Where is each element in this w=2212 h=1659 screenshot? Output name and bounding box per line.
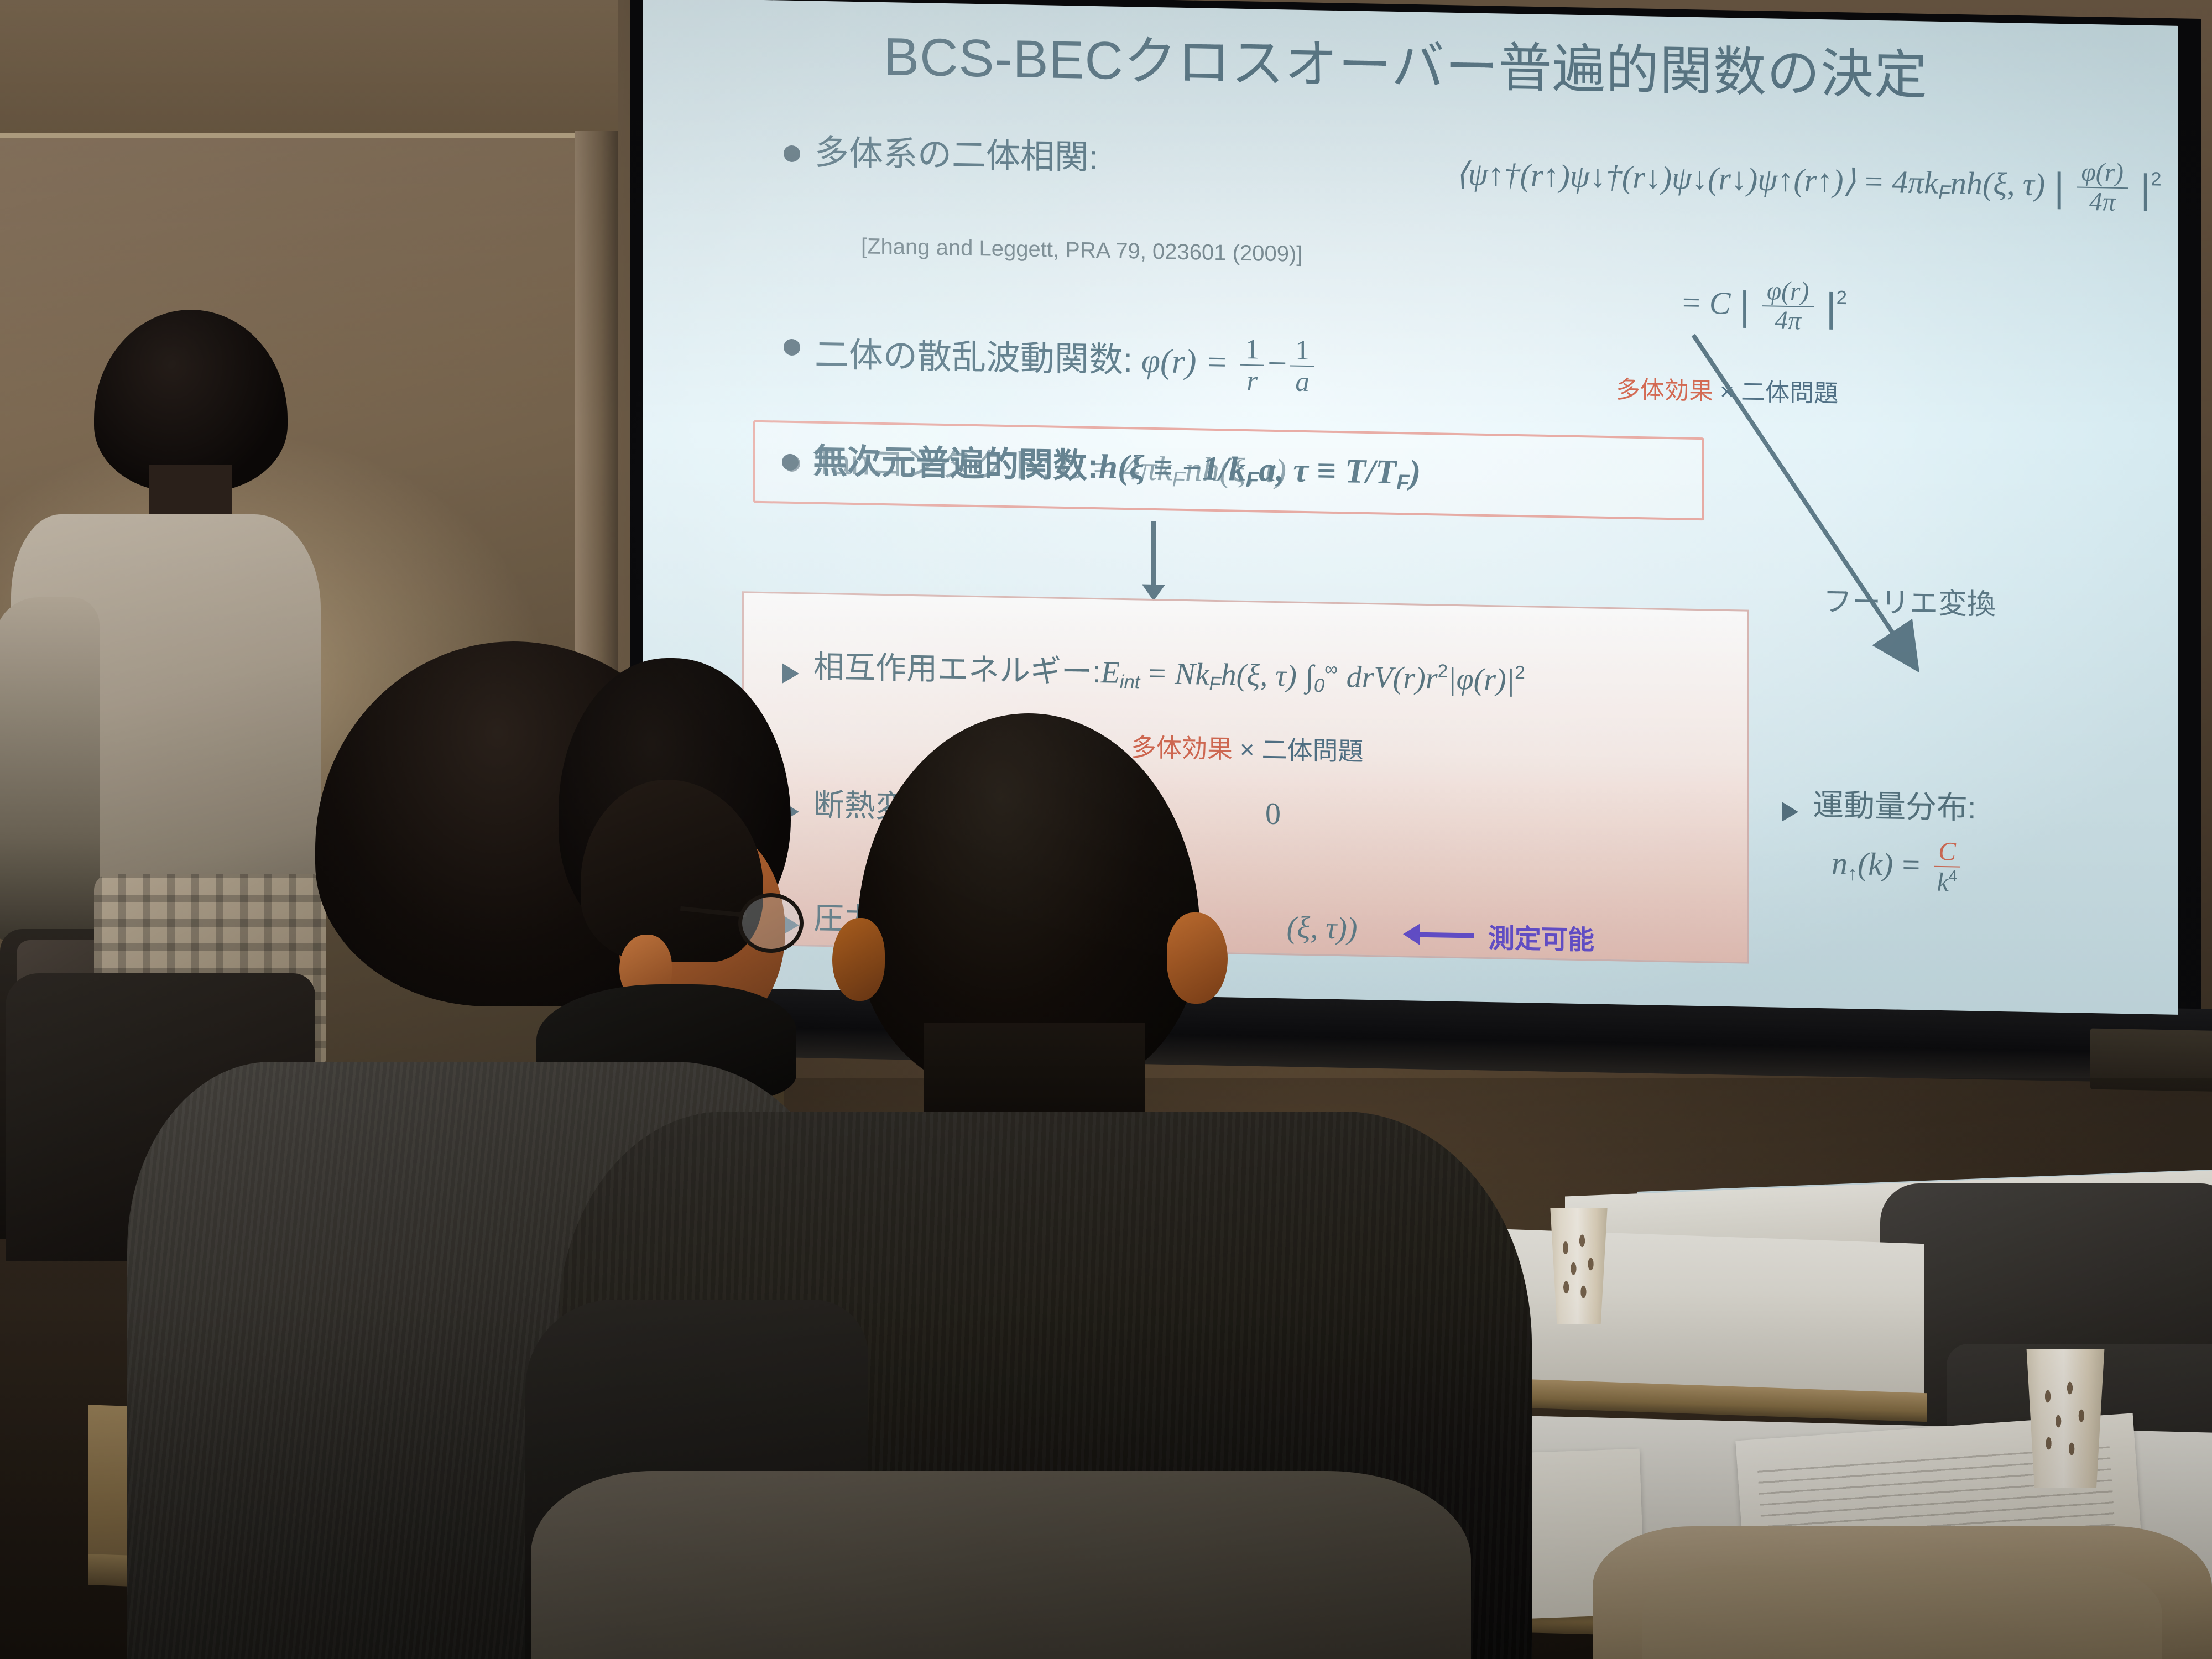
bullet-1-label: 多体系の二体相関 bbox=[815, 134, 1089, 177]
eq1-lhs: ⟨ψ↑†(r↑)ψ↓†(r↓)ψ↓(r↓)ψ↑(r↑)⟩ bbox=[1455, 156, 1856, 199]
boxed-xi-sub: F bbox=[1246, 467, 1259, 491]
bullet-2-label: 二体の散乱波動関数 bbox=[815, 336, 1123, 379]
bullet-1-text: 多体系の二体相関: bbox=[815, 134, 1098, 178]
r1-eq: = bbox=[1149, 656, 1166, 691]
paper-cup bbox=[2021, 1349, 2110, 1488]
mom-fraction: C k4 bbox=[1932, 839, 1962, 897]
eq1-rhs-prefix: 4πk bbox=[1892, 164, 1938, 201]
bullet-item-2: 二体の散乱波動関数: φ(r) = 1r−1a bbox=[784, 327, 1318, 396]
b2-f1-den: r bbox=[1241, 366, 1262, 395]
r1-int-lower: 0 bbox=[1314, 675, 1324, 696]
mom-lhs: n bbox=[1832, 846, 1848, 882]
boxed-sep: : bbox=[1087, 447, 1099, 485]
bullet-2-sep: : bbox=[1123, 341, 1133, 379]
bullet-2-text: 二体の散乱波動関数: φ(r) = 1r−1a bbox=[815, 327, 1318, 396]
momentum-label-row: 運動量分布: bbox=[1782, 787, 1976, 825]
bullet-2-frac1: 1r bbox=[1240, 335, 1264, 395]
mom-frac-den: k bbox=[1937, 868, 1949, 897]
chair-tan-inner bbox=[1642, 1565, 2162, 1659]
eq2-frac-num: φ(r) bbox=[1762, 278, 1814, 307]
standing-person-arm bbox=[0, 597, 100, 940]
boxed-label: 無次元普遍的関数 bbox=[813, 442, 1087, 485]
bullet-2-phi: φ(r) = bbox=[1133, 342, 1237, 381]
citation: [Zhang and Leggett, PRA 79, 023601 (2009… bbox=[861, 234, 1302, 267]
r1-rhs4-sup: 2 bbox=[1515, 662, 1525, 683]
bullet-2-minus: − bbox=[1267, 345, 1287, 383]
momentum-equation: n↑(k) = C k4 bbox=[1832, 837, 1976, 896]
r1-lhs-sub: int bbox=[1120, 672, 1140, 693]
r1-rhs3: drV(r)r bbox=[1347, 660, 1438, 696]
center-person-right-ear bbox=[1167, 912, 1228, 1004]
r1-sep: : bbox=[1092, 654, 1101, 689]
center-person-left-ear bbox=[832, 918, 885, 1001]
eq2-frac-exp: 2 bbox=[1837, 287, 1847, 309]
boxed-func: h( bbox=[1099, 448, 1129, 486]
mom-eq-sign: = bbox=[1902, 847, 1920, 883]
bullet-2-frac2: 1a bbox=[1290, 336, 1314, 396]
momentum-sep: : bbox=[1968, 790, 1976, 825]
abs-bar-close-icon: | bbox=[2140, 166, 2151, 212]
bullet-1-equation: ⟨ψ↑†(r↑)ψ↓†(r↓)ψ↓(r↓)ψ↑(r↑)⟩ = 4πkFnh(ξ,… bbox=[1455, 148, 2162, 217]
b2-f2-den: a bbox=[1290, 366, 1314, 396]
slide-title: BCS-BECクロスオーバー普遍的関数の決定 bbox=[880, 13, 1931, 109]
mom-frac-num: C bbox=[1934, 839, 1961, 868]
abs-bar-open-icon: | bbox=[2054, 164, 2064, 210]
measurable-label: 測定可能 bbox=[1488, 916, 1594, 957]
eq1-rhs-mid: nh(ξ, τ) bbox=[1950, 165, 2045, 202]
r1-int-upper: ∞ bbox=[1324, 659, 1338, 680]
momentum-distribution-item: 運動量分布: n↑(k) = C k4 bbox=[1782, 787, 1976, 897]
boxed-bullet-text: 無次元普遍的関数:h(ξ ≡ −1/kFa, τ ≡ T/TF) bbox=[813, 442, 1421, 494]
chair-grey-back bbox=[531, 1471, 1471, 1659]
bullet-item-1: 多体系の二体相関: bbox=[784, 133, 1098, 178]
boxed-xi-tail: a, τ ≡ T/T bbox=[1259, 451, 1396, 491]
bullet-dot-icon bbox=[784, 145, 800, 163]
down-arrow-icon bbox=[1151, 521, 1156, 587]
cup-pattern bbox=[2021, 1349, 2110, 1488]
boxed-universal-function-bullet: 無次元普遍的関数:h(ξ ≡ −1/kFa, τ ≡ T/TF) bbox=[753, 420, 1704, 521]
momentum-label-text: 運動量分布 bbox=[1813, 787, 1968, 825]
mom-lhs-arg: (k) bbox=[1858, 846, 1893, 882]
eq1-eq: = bbox=[1865, 163, 1883, 200]
r1-rhs1-sub: F bbox=[1209, 673, 1220, 694]
eq2-var: C bbox=[1709, 285, 1731, 321]
abs-bar-open-icon: | bbox=[1740, 283, 1750, 328]
r1-rhs1: Nk bbox=[1175, 657, 1209, 692]
result-item-1-text: 相互作用エネルギー:Eint = NkFh(ξ, τ) ∫0∞ drV(r)r2… bbox=[813, 650, 1525, 700]
boxed-xi: ξ ≡ −1/k bbox=[1129, 448, 1246, 488]
mom-lhs-sub: ↑ bbox=[1848, 862, 1858, 884]
b2-f2-num: 1 bbox=[1290, 336, 1314, 367]
b2-f1-num: 1 bbox=[1240, 335, 1264, 366]
eq2-fraction: φ(r) 4π bbox=[1762, 278, 1814, 335]
eq1-frac-num: φ(r) bbox=[2077, 160, 2128, 189]
abs-bar-close-icon: | bbox=[1826, 284, 1837, 330]
mom-frac-den-wrap: k4 bbox=[1932, 867, 1962, 896]
fourier-transform-label: フーリエ変換 bbox=[1823, 578, 1996, 623]
bullet-1-sep: : bbox=[1089, 139, 1098, 177]
lecture-room-photo: BCS-BECクロスオーバー普遍的関数の決定 多体系の二体相関: ⟨ψ↑†(r↑… bbox=[0, 0, 2212, 1659]
r1-rhs3-sup: 2 bbox=[1438, 661, 1448, 682]
r1-lhs: E bbox=[1101, 655, 1120, 690]
mom-frac-den-sup: 4 bbox=[1949, 868, 1958, 885]
fourier-arrow-icon bbox=[1685, 327, 1939, 685]
boxed-close: ) bbox=[1410, 453, 1421, 491]
eq2-eq: = bbox=[1682, 284, 1700, 321]
r1-integral-icon: ∫ bbox=[1306, 659, 1314, 693]
momentum-label: 運動量分布: bbox=[1813, 788, 1976, 825]
arrowhead-bullet-icon bbox=[1782, 802, 1798, 822]
bullet-dot-icon bbox=[782, 454, 799, 471]
r1-rhs4: |φ(r)| bbox=[1448, 662, 1515, 697]
boxed-tau-sub: F bbox=[1396, 470, 1409, 494]
r1-rhs2: h(ξ, τ) bbox=[1221, 658, 1297, 693]
eq1-frac-den: 4π bbox=[2084, 188, 2120, 216]
eq1-frac-exp: 2 bbox=[2151, 168, 2161, 190]
eq1-rhs-sub: F bbox=[1938, 181, 1950, 204]
bullet-dot-icon bbox=[784, 339, 800, 356]
eq1-fraction: φ(r) 4π bbox=[2077, 160, 2128, 217]
result-item-1: 相互作用エネルギー:Eint = NkFh(ξ, τ) ∫0∞ drV(r)r2… bbox=[782, 649, 1525, 701]
